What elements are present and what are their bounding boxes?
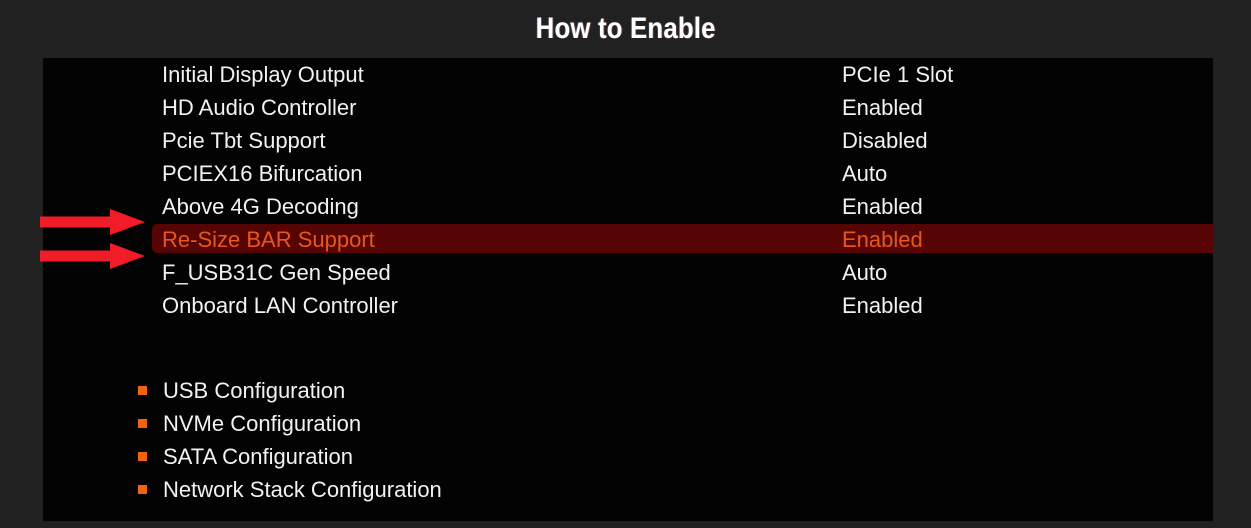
bios-setting-row[interactable]: PCIEX16 BifurcationAuto [43, 157, 1213, 190]
bios-setting-label: Pcie Tbt Support [162, 130, 842, 152]
bios-setting-value[interactable]: Auto [842, 262, 887, 284]
bios-setting-value[interactable]: Enabled [842, 295, 923, 317]
bios-setting-label: Initial Display Output [162, 64, 842, 86]
bios-submenu-item[interactable]: Network Stack Configuration [43, 473, 1213, 506]
bios-setting-value[interactable]: Enabled [842, 229, 923, 251]
submenu-bullet-icon [138, 452, 147, 461]
bios-setting-label: Re-Size BAR Support [162, 229, 842, 251]
page-title: How to Enable [536, 12, 716, 46]
bios-setting-label: F_USB31C Gen Speed [162, 262, 842, 284]
bios-submenu-label: USB Configuration [163, 380, 345, 402]
bios-setting-label: Above 4G Decoding [162, 196, 842, 218]
bios-submenu-label: SATA Configuration [163, 446, 353, 468]
bios-setting-value[interactable]: Disabled [842, 130, 928, 152]
bios-settings-list: Initial Display OutputPCIe 1 SlotHD Audi… [43, 58, 1213, 322]
bios-setting-value[interactable]: PCIe 1 Slot [842, 64, 953, 86]
bios-submenu-list: USB ConfigurationNVMe ConfigurationSATA … [43, 374, 1213, 506]
annotation-arrow-resize-bar-icon [40, 241, 148, 271]
bios-setting-row[interactable]: HD Audio ControllerEnabled [43, 91, 1213, 124]
bios-setting-row[interactable]: Re-Size BAR SupportEnabled [43, 223, 1213, 256]
bios-settings-panel: Initial Display OutputPCIe 1 SlotHD Audi… [43, 58, 1213, 521]
bios-setting-label: Onboard LAN Controller [162, 295, 842, 317]
submenu-bullet-icon [138, 485, 147, 494]
submenu-bullet-icon [138, 419, 147, 428]
bios-setting-row[interactable]: Initial Display OutputPCIe 1 Slot [43, 58, 1213, 91]
bios-setting-value[interactable]: Enabled [842, 97, 923, 119]
annotation-arrow-above-4g-icon [40, 207, 148, 237]
bios-submenu-item[interactable]: SATA Configuration [43, 440, 1213, 473]
bios-setting-row[interactable]: Pcie Tbt SupportDisabled [43, 124, 1213, 157]
bios-setting-label: PCIEX16 Bifurcation [162, 163, 842, 185]
bios-submenu-item[interactable]: USB Configuration [43, 374, 1213, 407]
bios-submenu-label: Network Stack Configuration [163, 479, 442, 501]
bios-submenu-item[interactable]: NVMe Configuration [43, 407, 1213, 440]
bios-setting-row[interactable]: F_USB31C Gen SpeedAuto [43, 256, 1213, 289]
bios-setting-row[interactable]: Above 4G DecodingEnabled [43, 190, 1213, 223]
bios-setting-value[interactable]: Enabled [842, 196, 923, 218]
bios-submenu-label: NVMe Configuration [163, 413, 361, 435]
bios-setting-value[interactable]: Auto [842, 163, 887, 185]
title-banner: How to Enable [0, 0, 1251, 58]
bios-setting-label: HD Audio Controller [162, 97, 842, 119]
submenu-bullet-icon [138, 386, 147, 395]
bios-setting-row[interactable]: Onboard LAN ControllerEnabled [43, 289, 1213, 322]
